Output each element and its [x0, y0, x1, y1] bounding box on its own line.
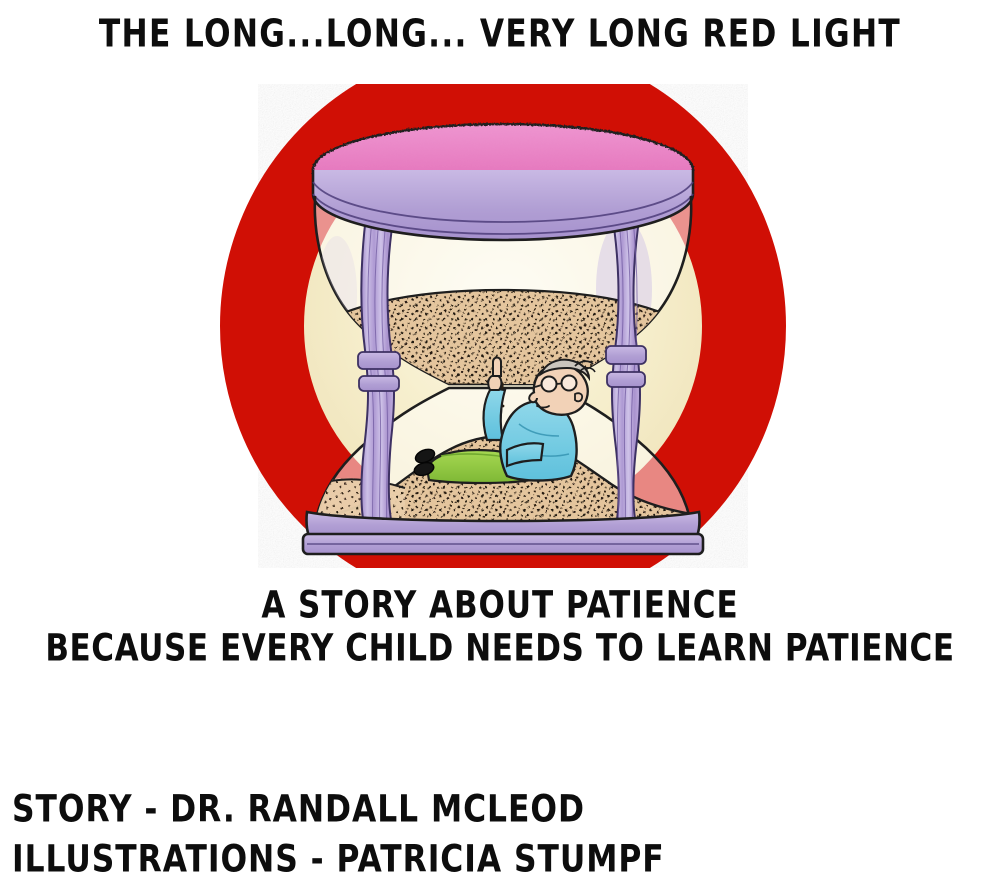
hourglass-in-red-ring-illustration — [219, 84, 787, 568]
subtitle-line-1: A STORY ABOUT PATIENCE — [30, 583, 970, 626]
subtitle-line-2: BECAUSE EVERY CHILD NEEDS TO LEARN PATIE… — [30, 625, 970, 671]
page-title: THE LONG...LONG... VERY LONG RED LIGHT — [40, 12, 960, 57]
book-cover-page: THE LONG...LONG... VERY LONG RED LIGHT — [0, 0, 1000, 894]
credit-story: STORY - DR. RANDALL MCLEOD — [12, 781, 665, 838]
subtitle-block: A STORY ABOUT PATIENCE BECAUSE EVERY CHI… — [0, 586, 1000, 668]
credits-block: STORY - DR. RANDALL MCLEOD ILLUSTRATIONS… — [12, 784, 699, 884]
credit-illustrations: ILLUSTRATIONS - PATRICIA STUMPF — [12, 831, 665, 888]
